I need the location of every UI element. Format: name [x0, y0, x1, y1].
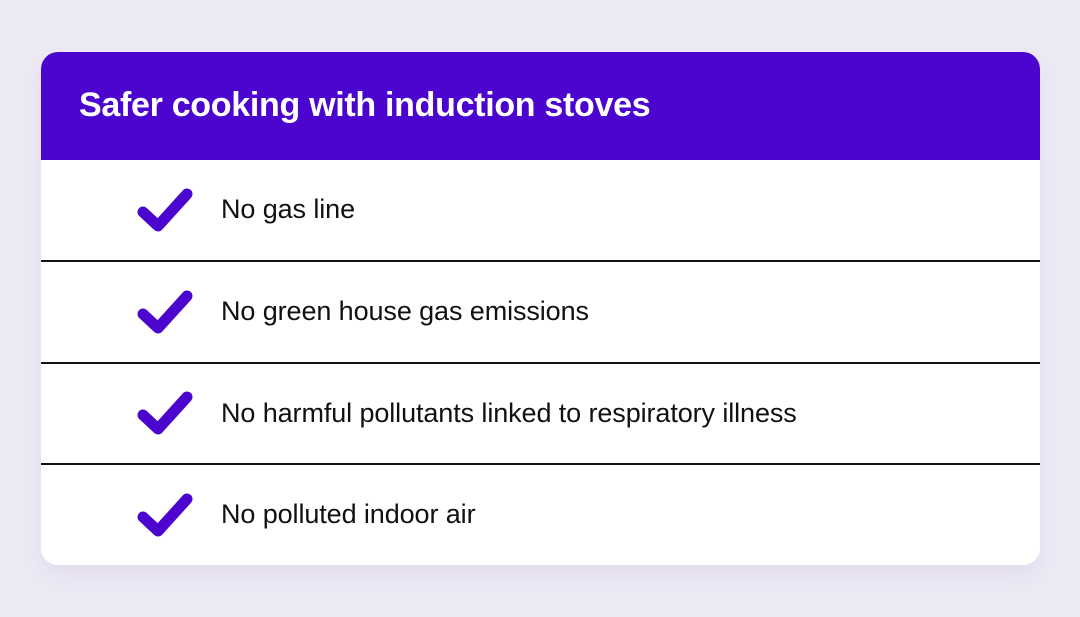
check-icon: [137, 492, 193, 538]
check-icon: [137, 187, 193, 233]
list-item: No harmful pollutants linked to respirat…: [41, 362, 1040, 464]
check-icon: [137, 289, 193, 335]
check-cell: [79, 492, 221, 538]
check-cell: [79, 187, 221, 233]
list-item-label: No polluted indoor air: [221, 498, 475, 532]
list-item: No polluted indoor air: [41, 463, 1040, 565]
page-title: Safer cooking with induction stoves: [79, 87, 650, 124]
page-root: Safer cooking with induction stoves No g…: [0, 0, 1080, 617]
benefit-list: No gas line No green house gas emissions…: [41, 160, 1040, 565]
list-item-label: No gas line: [221, 193, 355, 227]
benefits-card: Safer cooking with induction stoves No g…: [41, 52, 1040, 565]
list-item: No gas line: [41, 160, 1040, 260]
list-item-label: No green house gas emissions: [221, 295, 589, 329]
list-item-label: No harmful pollutants linked to respirat…: [221, 397, 797, 431]
check-icon: [137, 390, 193, 436]
card-header: Safer cooking with induction stoves: [41, 52, 1040, 160]
check-cell: [79, 390, 221, 436]
list-item: No green house gas emissions: [41, 260, 1040, 362]
check-cell: [79, 289, 221, 335]
